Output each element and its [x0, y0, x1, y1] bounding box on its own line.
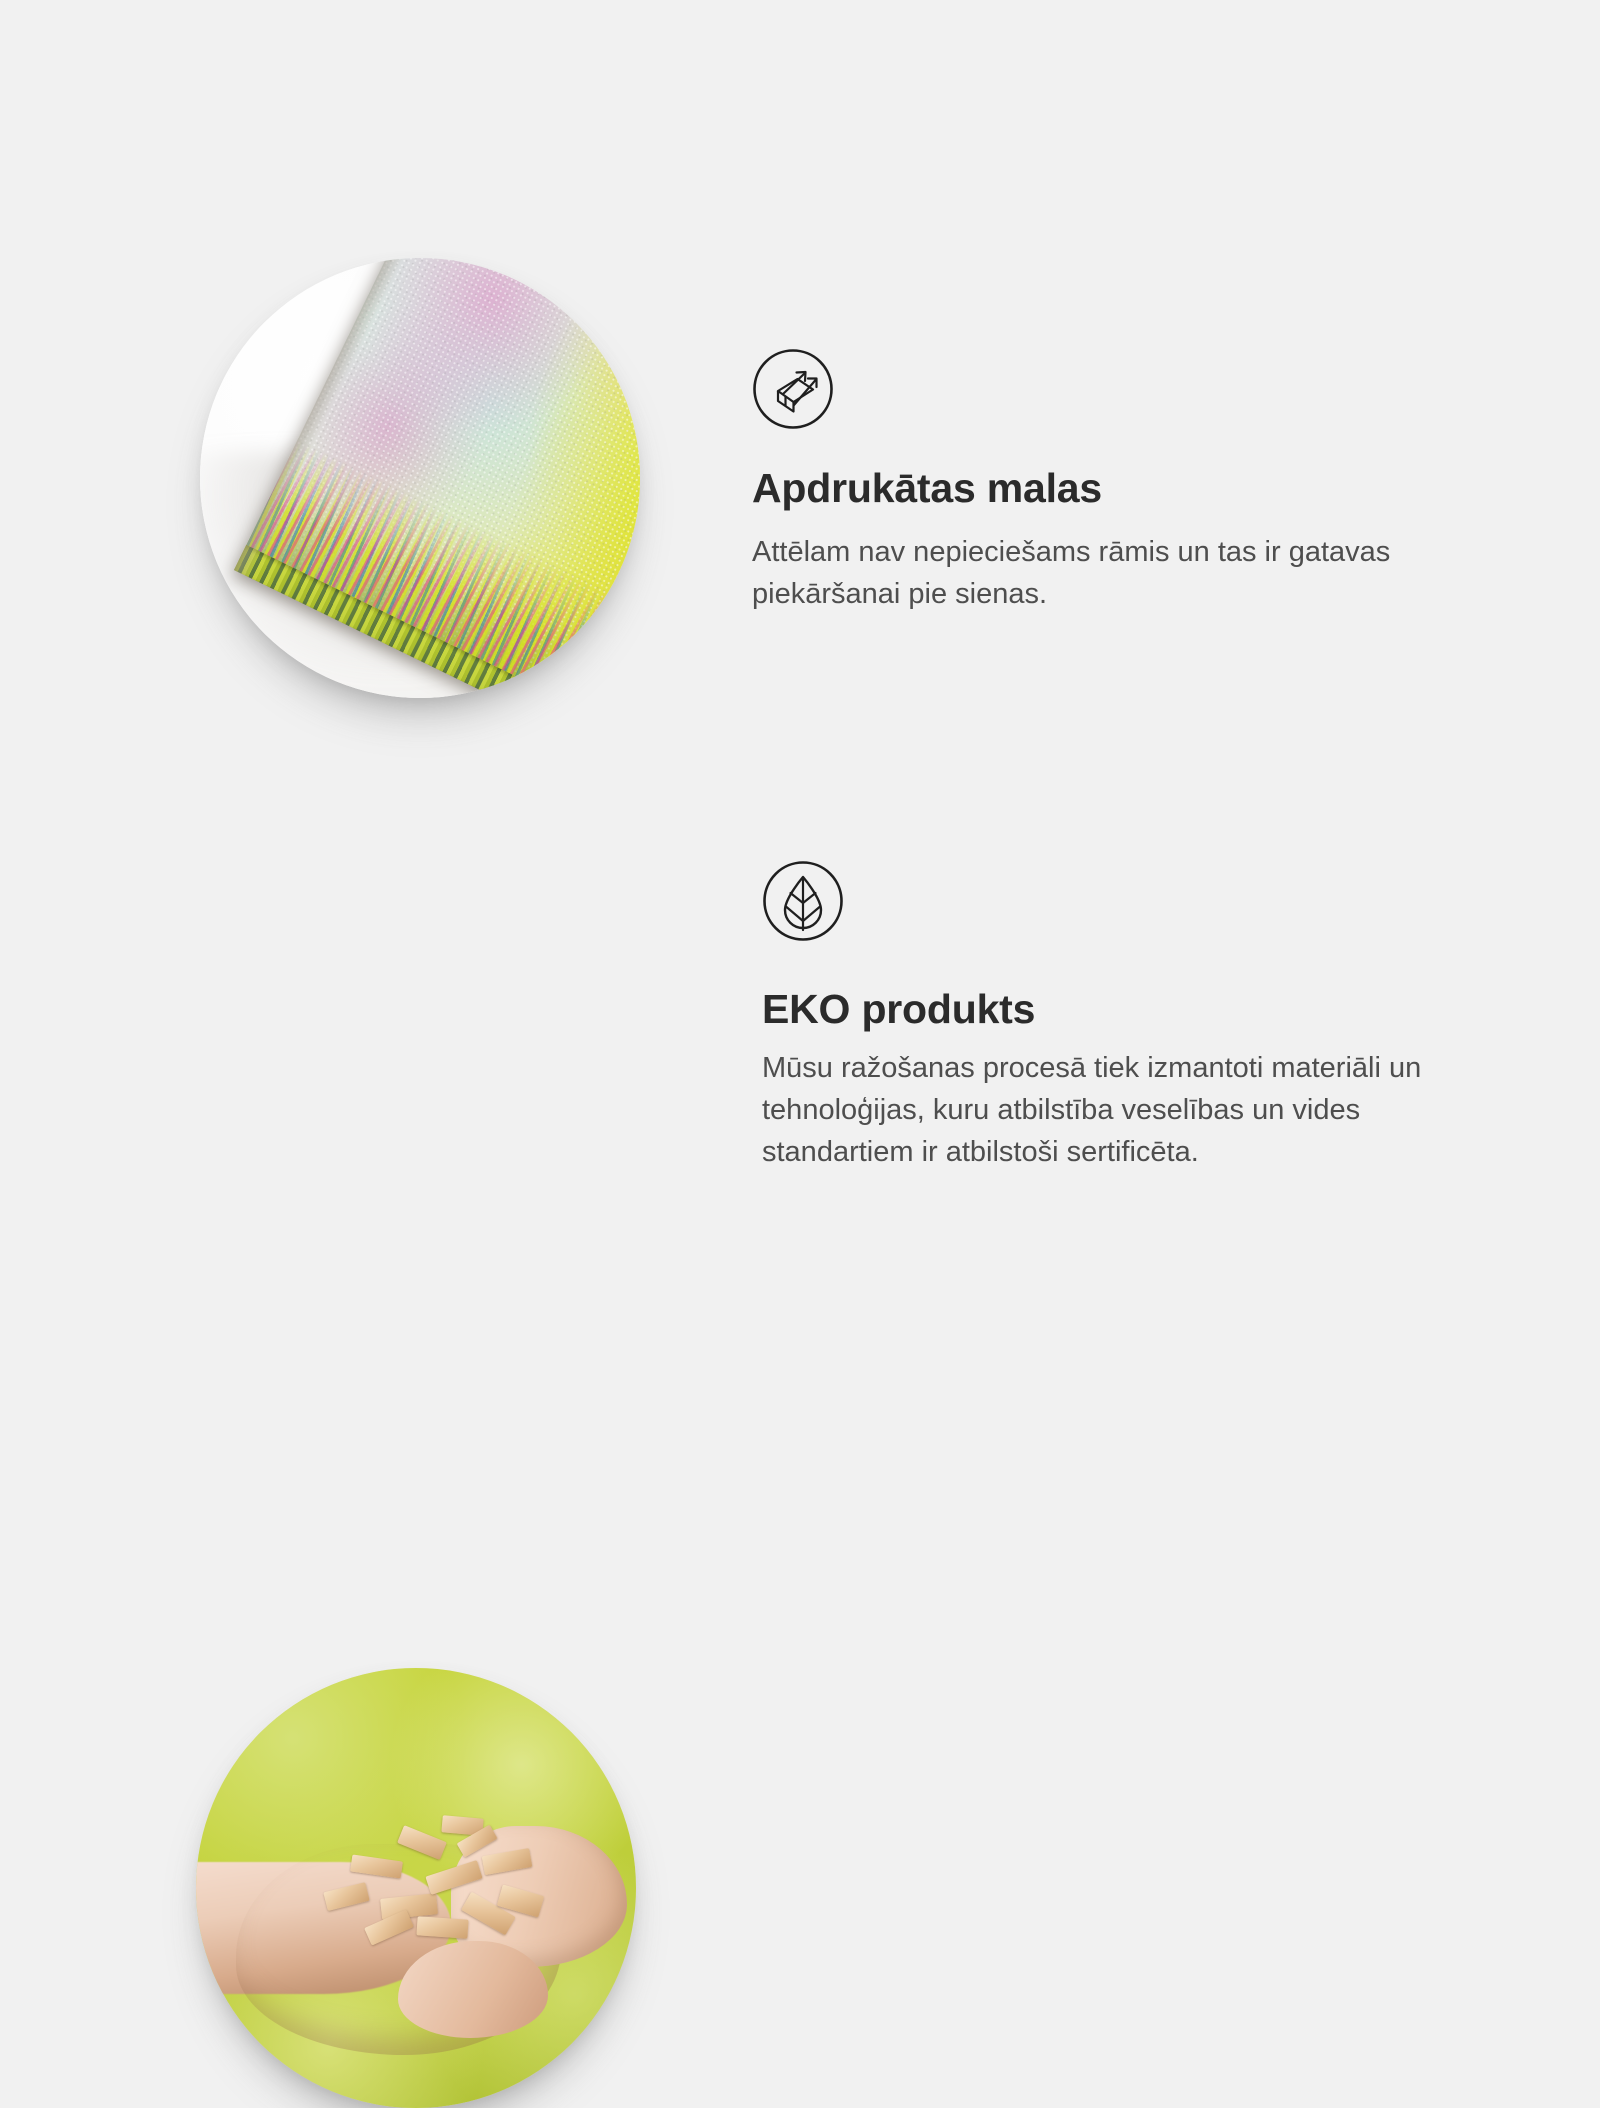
- wood-chips-hands-photo: [196, 1668, 636, 2108]
- feature-block-eco-product: EKO produkts Mūsu ražošanas procesā tiek…: [0, 800, 1600, 1600]
- feature-description: Attēlam nav nepieciešams rāmis un tas ir…: [752, 532, 1492, 616]
- hands-illustration: [196, 1668, 636, 2108]
- feature-title: EKO produkts: [762, 986, 1035, 1033]
- feature-description: Mūsu ražošanas procesā tiek izmantoti ma…: [762, 1048, 1502, 1173]
- feature-title: Apdrukātas malas: [752, 465, 1102, 512]
- printed-edges-icon: [752, 348, 834, 430]
- feature-media-column: [0, 800, 740, 1600]
- canvas-corner-photo: [200, 258, 640, 698]
- feature-media-column: [0, 0, 740, 800]
- feature-block-printed-edges: Apdrukātas malas Attēlam nav nepieciešam…: [0, 0, 1600, 800]
- wood-chips-pile: [315, 1804, 570, 1962]
- product-features-page: Apdrukātas malas Attēlam nav nepieciešam…: [0, 0, 1600, 1600]
- leaf-icon: [762, 860, 844, 942]
